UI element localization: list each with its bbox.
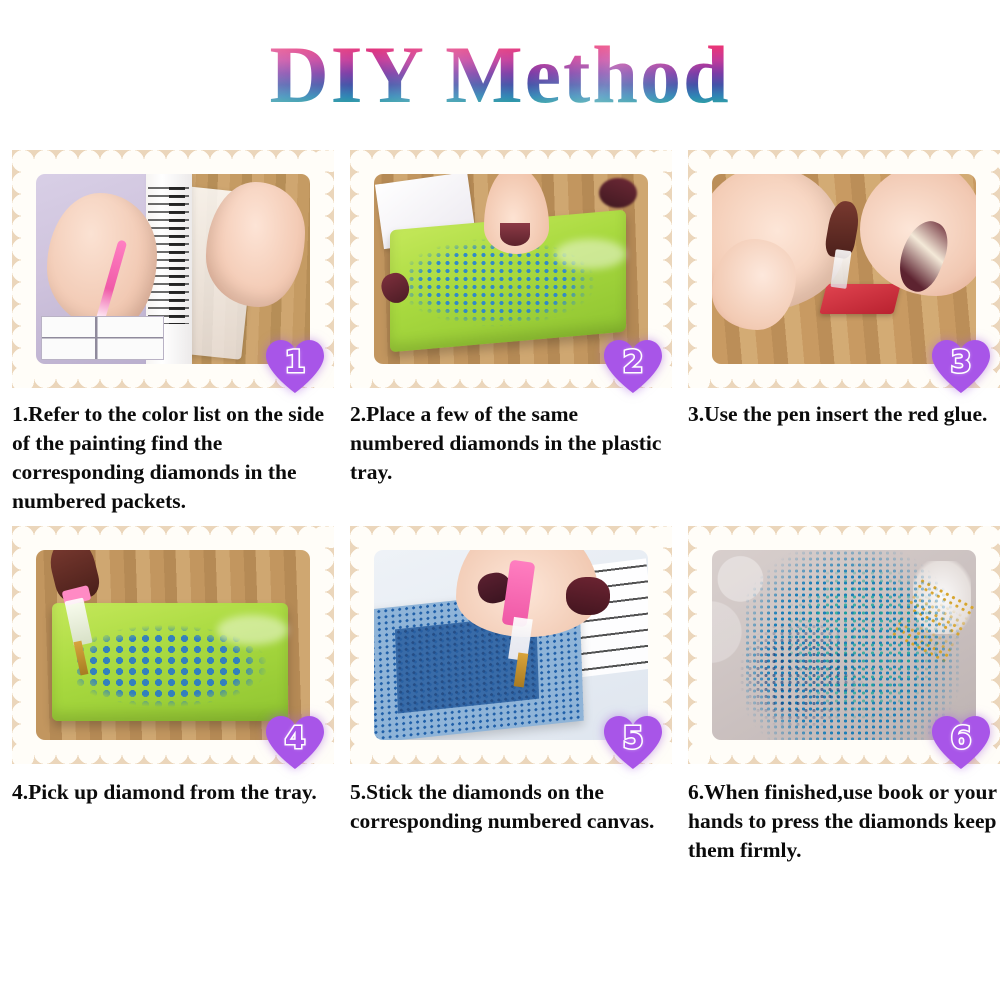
step-photo-3 [712,174,976,364]
step-badge-number-1: 1 [264,338,326,394]
step-badge-number-5: 5 [602,714,664,770]
stamp-frame-6: 6 [688,526,1000,764]
step-caption-2: 2.Place a few of the same numbered diamo… [350,400,676,487]
step-badge-number-4: 4 [264,714,326,770]
stamp-frame-5: 5 [350,526,672,764]
step-photo-5 [374,550,648,740]
step-badge-5: 5 [602,714,664,770]
step-badge-number-2: 2 [602,338,664,394]
step-card-6: 6 6.When finished,use book or your hands… [688,526,1000,865]
step-card-1: 1 1.Refer to the color list on the side … [12,150,338,516]
steps-row-1: 1 1.Refer to the color list on the side … [0,150,1000,516]
step-caption-5: 5.Stick the diamonds on the correspondin… [350,776,676,836]
step-badge-2: 2 [602,338,664,394]
stamp-frame-1: 1 [12,150,334,388]
step-caption-1: 1.Refer to the color list on the side of… [12,400,338,516]
page-title: DIY Method [269,34,730,116]
step-photo-4 [36,550,310,740]
title-bar: DIY Method [0,0,1000,150]
step-badge-number-6: 6 [930,714,992,770]
step-card-5: 5 5.Stick the diamonds on the correspond… [350,526,676,865]
step-card-3: 3 3.Use the pen insert the red glue. [688,150,1000,516]
stamp-frame-3: 3 [688,150,1000,388]
step-card-2: 2 2.Place a few of the same numbered dia… [350,150,676,516]
step-badge-4: 4 [264,714,326,770]
step-badge-1: 1 [264,338,326,394]
step-caption-4: 4.Pick up diamond from the tray. [12,776,338,807]
stamp-frame-4: 4 [12,526,334,764]
step-caption-6: 6.When finished,use book or your hands t… [688,776,1000,865]
step-photo-2 [374,174,648,364]
step-badge-6: 6 [930,714,992,770]
step-photo-1 [36,174,310,364]
step-badge-number-3: 3 [930,338,992,394]
stamp-frame-2: 2 [350,150,672,388]
step-card-4: 4 4.Pick up diamond from the tray. [12,526,338,865]
step-caption-3: 3.Use the pen insert the red glue. [688,400,1000,429]
step-badge-3: 3 [930,338,992,394]
step-photo-6 [712,550,976,740]
steps-row-2: 4 4.Pick up diamond from the tray. [0,526,1000,865]
